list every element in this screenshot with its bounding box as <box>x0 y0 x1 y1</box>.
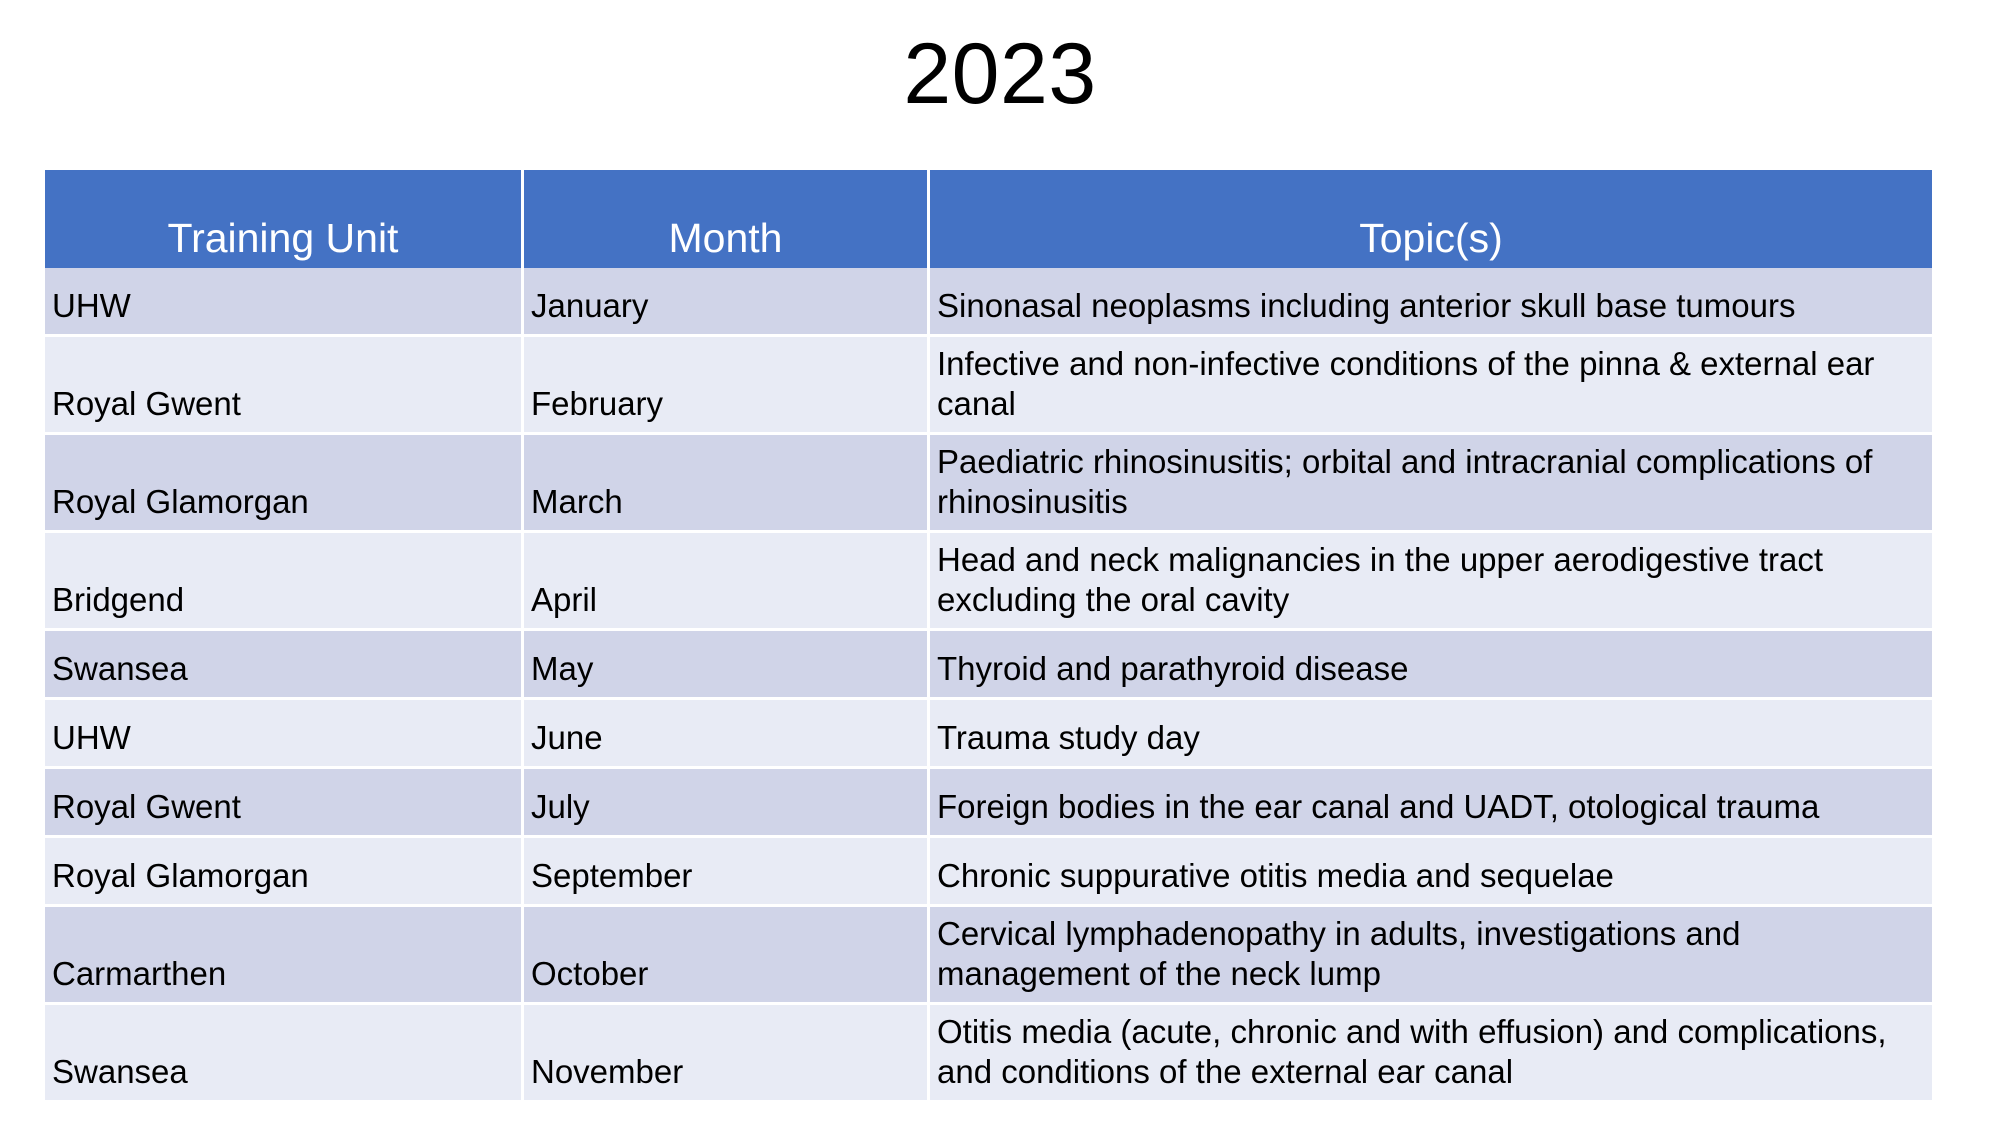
column-header-topics: Topic(s) <box>930 170 1932 268</box>
cell-topics: Chronic suppurative otitis media and seq… <box>930 838 1932 907</box>
cell-topics: Infective and non-infective conditions o… <box>930 337 1932 435</box>
table-row: Royal GlamorganSeptemberChronic suppurat… <box>45 838 1932 907</box>
cell-month: April <box>524 533 930 631</box>
cell-month: July <box>524 769 930 838</box>
cell-training-unit: Swansea <box>45 631 524 700</box>
slide-canvas: 2023 Training Unit Month Topic(s) UHWJan… <box>0 0 2000 1125</box>
cell-training-unit: Royal Glamorgan <box>45 838 524 907</box>
table-row: CarmarthenOctoberCervical lymphadenopath… <box>45 907 1932 1005</box>
cell-month: November <box>524 1005 930 1103</box>
cell-topics: Sinonasal neoplasms including anterior s… <box>930 268 1932 337</box>
cell-training-unit: Royal Gwent <box>45 337 524 435</box>
cell-training-unit: UHW <box>45 268 524 337</box>
page-title: 2023 <box>0 28 2000 121</box>
table-row: Royal GwentFebruaryInfective and non-inf… <box>45 337 1932 435</box>
cell-month: March <box>524 435 930 533</box>
cell-training-unit: Bridgend <box>45 533 524 631</box>
table-row: Royal GlamorganMarchPaediatric rhinosinu… <box>45 435 1932 533</box>
cell-topics: Trauma study day <box>930 700 1932 769</box>
table-row: UHWJuneTrauma study day <box>45 700 1932 769</box>
training-schedule-table: Training Unit Month Topic(s) UHWJanuaryS… <box>45 170 1932 1103</box>
cell-topics: Cervical lymphadenopathy in adults, inve… <box>930 907 1932 1005</box>
cell-month: January <box>524 268 930 337</box>
column-header-month: Month <box>524 170 930 268</box>
table-header: Training Unit Month Topic(s) <box>45 170 1932 268</box>
cell-training-unit: Carmarthen <box>45 907 524 1005</box>
table-header-row: Training Unit Month Topic(s) <box>45 170 1932 268</box>
table-row: SwanseaMayThyroid and parathyroid diseas… <box>45 631 1932 700</box>
column-header-training-unit: Training Unit <box>45 170 524 268</box>
cell-topics: Otitis media (acute, chronic and with ef… <box>930 1005 1932 1103</box>
cell-training-unit: Royal Glamorgan <box>45 435 524 533</box>
cell-training-unit: Royal Gwent <box>45 769 524 838</box>
cell-month: February <box>524 337 930 435</box>
table-row: Royal GwentJulyForeign bodies in the ear… <box>45 769 1932 838</box>
table-row: BridgendAprilHead and neck malignancies … <box>45 533 1932 631</box>
cell-training-unit: Swansea <box>45 1005 524 1103</box>
cell-month: June <box>524 700 930 769</box>
cell-training-unit: UHW <box>45 700 524 769</box>
cell-month: September <box>524 838 930 907</box>
cell-topics: Paediatric rhinosinusitis; orbital and i… <box>930 435 1932 533</box>
cell-topics: Thyroid and parathyroid disease <box>930 631 1932 700</box>
table-row: UHWJanuarySinonasal neoplasms including … <box>45 268 1932 337</box>
table-body: UHWJanuarySinonasal neoplasms including … <box>45 268 1932 1103</box>
cell-topics: Foreign bodies in the ear canal and UADT… <box>930 769 1932 838</box>
table-row: SwanseaNovemberOtitis media (acute, chro… <box>45 1005 1932 1103</box>
cell-month: October <box>524 907 930 1005</box>
cell-month: May <box>524 631 930 700</box>
cell-topics: Head and neck malignancies in the upper … <box>930 533 1932 631</box>
